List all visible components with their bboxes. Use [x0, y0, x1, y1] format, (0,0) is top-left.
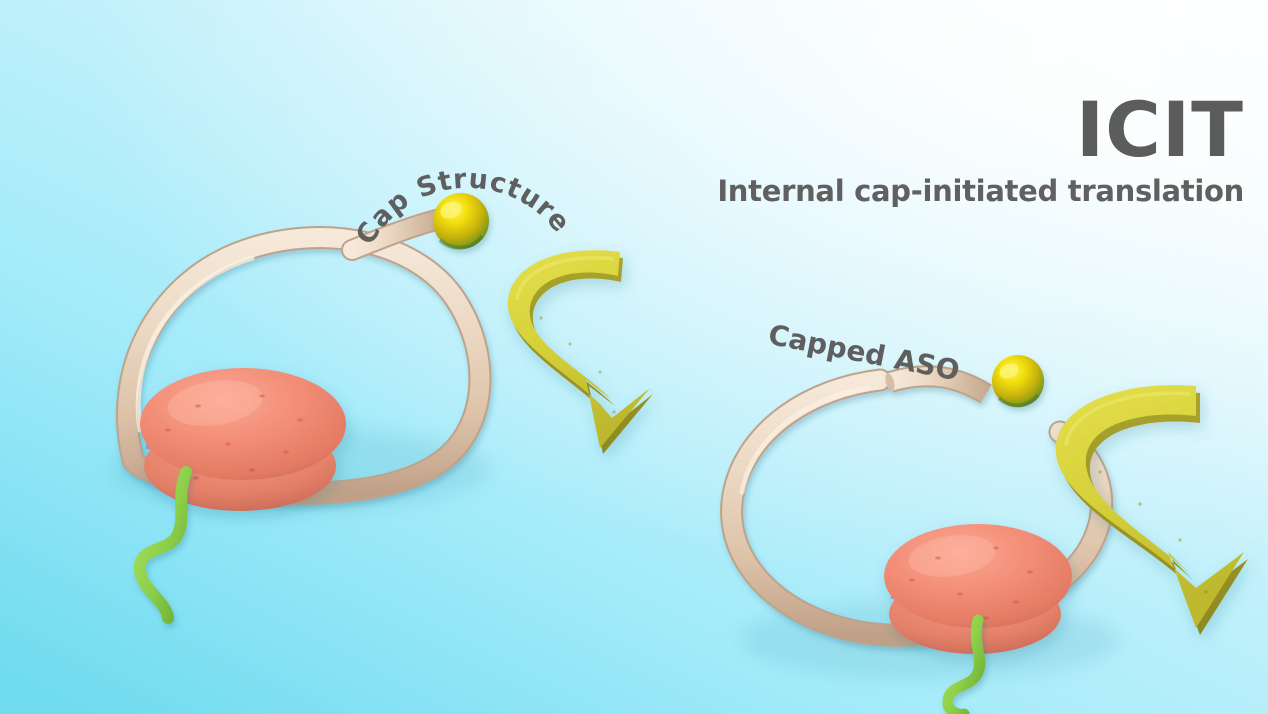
left-mrna-ribosome-complex [110, 193, 490, 618]
aso-tube [890, 376, 986, 394]
arrow-right-texture [1098, 470, 1207, 593]
left-ribosome [140, 368, 346, 511]
capped-aso-cap-sphere [992, 355, 1044, 407]
translation-arrow-left [508, 250, 653, 454]
molecular-artwork: Cap Structure [0, 0, 1268, 714]
5-prime-cap-sphere [433, 193, 489, 249]
right-mrna-aso-ribosome-complex [732, 355, 1120, 714]
capped-aso-strand [884, 372, 986, 394]
illustration-canvas: Cap Structure ICIT Internal cap-initiate… [0, 0, 1268, 714]
translation-arrow-right [1056, 385, 1248, 635]
